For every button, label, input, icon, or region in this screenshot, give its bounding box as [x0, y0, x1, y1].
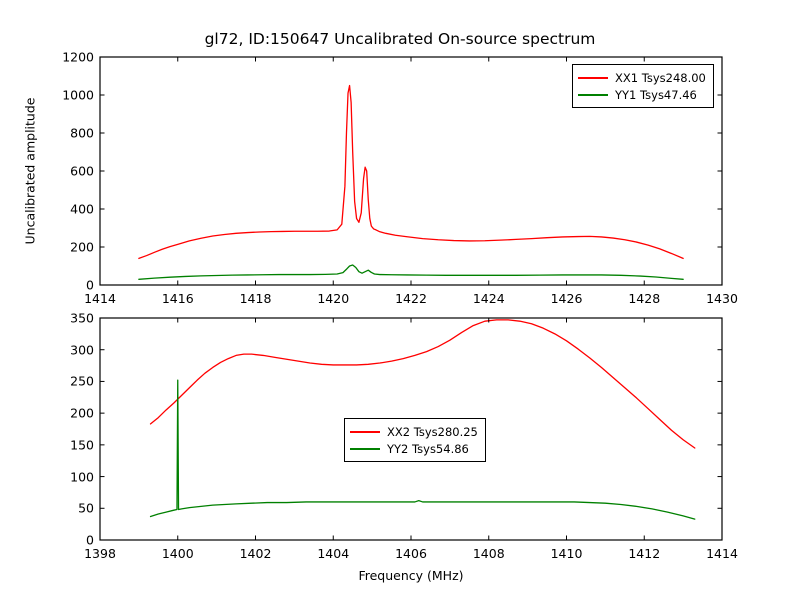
- x-tick-label: 1426: [551, 291, 583, 306]
- y-tick-label: 1000: [62, 88, 94, 103]
- legend-label: YY1 Tsys47.46: [615, 88, 697, 102]
- x-axis-label: Frequency (MHz): [358, 568, 463, 583]
- legend-label: XX2 Tsys280.25: [387, 425, 478, 439]
- figure-title: gl72, ID:150647 Uncalibrated On-source s…: [0, 30, 800, 48]
- x-tick-label: 1412: [628, 546, 660, 561]
- legend-top-panel[interactable]: XX1 Tsys248.00 YY1 Tsys47.46: [572, 64, 714, 108]
- y-tick-label: 600: [70, 164, 94, 179]
- legend-label: YY2 Tsys54.86: [387, 442, 469, 456]
- x-tick-label: 1422: [395, 291, 427, 306]
- y-tick-label: 800: [70, 126, 94, 141]
- legend-item: YY2 Tsys54.86: [350, 440, 478, 457]
- x-tick-label: 1430: [706, 291, 738, 306]
- y-tick-label: 250: [70, 374, 94, 389]
- legend-line-swatch-red: [578, 77, 608, 79]
- legend-item: YY1 Tsys47.46: [578, 86, 706, 103]
- x-tick-label: 1428: [628, 291, 660, 306]
- y-tick-label: 300: [70, 342, 94, 357]
- x-tick-label: 1424: [473, 291, 505, 306]
- y-tick-label: 200: [70, 406, 94, 421]
- x-tick-label: 1414: [84, 291, 116, 306]
- y-tick-label: 150: [70, 437, 94, 452]
- y-tick-label: 50: [78, 501, 94, 516]
- x-tick-label: 1406: [395, 546, 427, 561]
- x-tick-label: 1418: [240, 291, 272, 306]
- series-line: [139, 86, 683, 259]
- y-tick-label: 200: [70, 240, 94, 255]
- x-tick-label: 1420: [317, 291, 349, 306]
- series-line: [139, 265, 683, 279]
- x-tick-label: 1414: [706, 546, 738, 561]
- y-tick-label: 350: [70, 311, 94, 326]
- x-tick-label: 1404: [317, 546, 349, 561]
- x-tick-label: 1398: [84, 546, 116, 561]
- figure-canvas: gl72, ID:150647 Uncalibrated On-source s…: [0, 0, 800, 600]
- legend-item: XX2 Tsys280.25: [350, 423, 478, 440]
- y-tick-label: 0: [86, 278, 94, 293]
- legend-item: XX1 Tsys248.00: [578, 69, 706, 86]
- y-tick-label: 400: [70, 202, 94, 217]
- x-tick-label: 1416: [162, 291, 194, 306]
- legend-label: XX1 Tsys248.00: [615, 71, 706, 85]
- y-tick-label: 1200: [62, 50, 94, 65]
- legend-bottom-panel[interactable]: XX2 Tsys280.25 YY2 Tsys54.86: [344, 418, 486, 462]
- y-tick-label: 100: [70, 469, 94, 484]
- x-tick-label: 1402: [240, 546, 272, 561]
- x-tick-label: 1400: [162, 546, 194, 561]
- y-axis-label-top: Uncalibrated amplitude: [23, 98, 38, 245]
- y-tick-label: 0: [86, 533, 94, 548]
- legend-line-swatch-red: [350, 431, 380, 433]
- x-tick-label: 1410: [551, 546, 583, 561]
- legend-line-swatch-green: [350, 448, 380, 450]
- legend-line-swatch-green: [578, 94, 608, 96]
- x-tick-label: 1408: [473, 546, 505, 561]
